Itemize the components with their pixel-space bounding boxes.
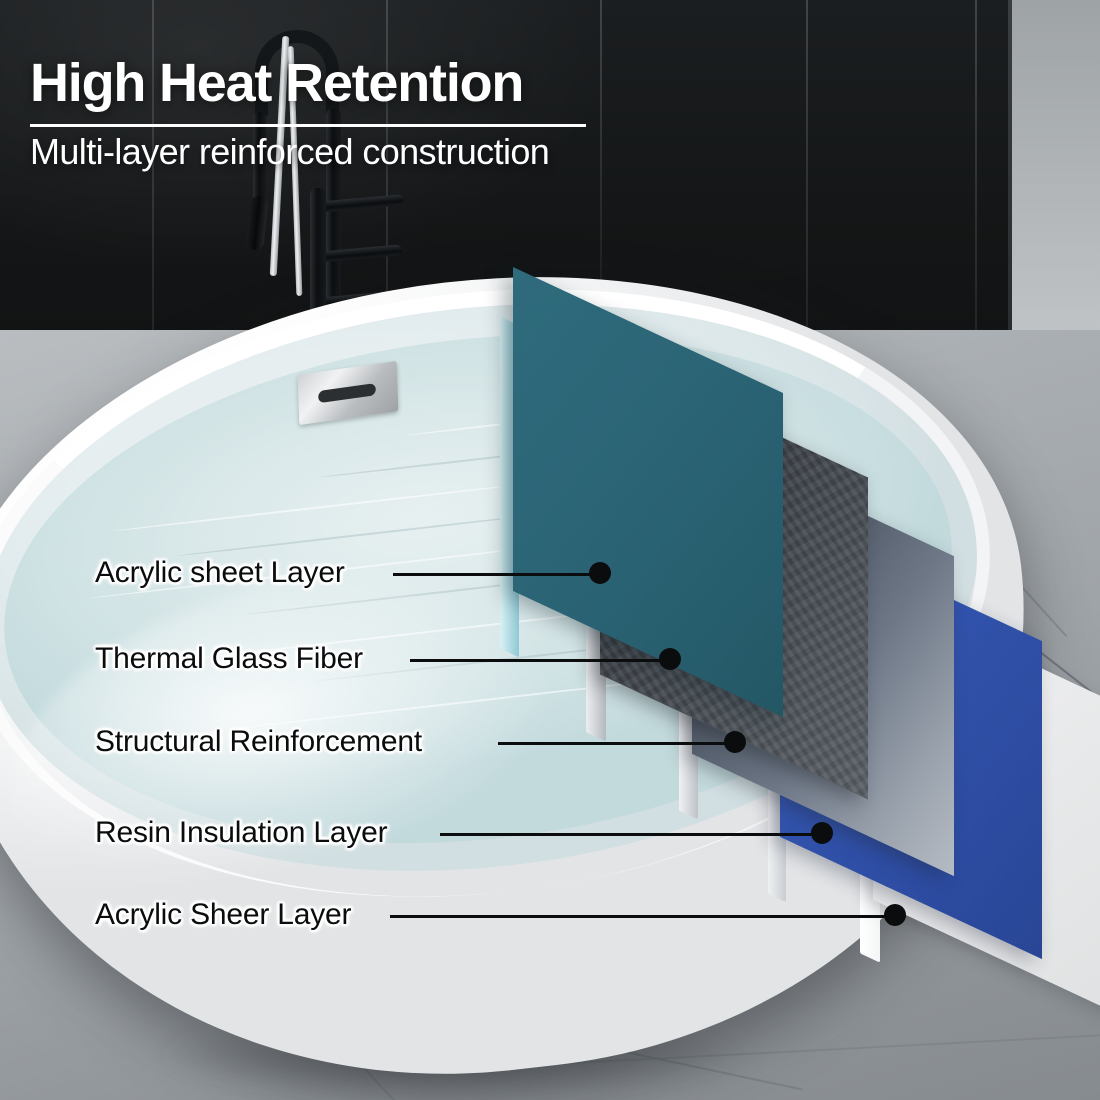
callout-label: Acrylic sheet Layer: [95, 556, 345, 590]
page-title: High Heat Retention: [30, 52, 523, 114]
callout-leader-line: [440, 833, 827, 836]
overflow-slot: [318, 383, 376, 403]
panel-face: [513, 267, 783, 717]
callout-leader-line: [410, 659, 675, 662]
callout-leader-line: [390, 915, 900, 918]
callout-dot: [589, 562, 611, 584]
infographic-canvas: Acrylic sheet Layer Thermal Glass Fiber …: [0, 0, 1100, 1100]
callout-label: Acrylic Sheer Layer: [95, 898, 351, 932]
title-divider: [30, 124, 586, 127]
page-subtitle: Multi-layer reinforced construction: [30, 131, 549, 173]
callout-label: Structural Reinforcement: [95, 725, 422, 759]
callout-dot: [884, 904, 906, 926]
callout-dot: [724, 731, 746, 753]
panel-acrylic-sheet-layer: [513, 330, 783, 654]
callout-dot: [811, 822, 833, 844]
callout-leader-line: [393, 573, 605, 576]
callout-leader-line: [498, 742, 740, 745]
callout-label: Thermal Glass Fiber: [95, 642, 363, 676]
callout-dot: [659, 648, 681, 670]
callout-label: Resin Insulation Layer: [95, 816, 387, 850]
